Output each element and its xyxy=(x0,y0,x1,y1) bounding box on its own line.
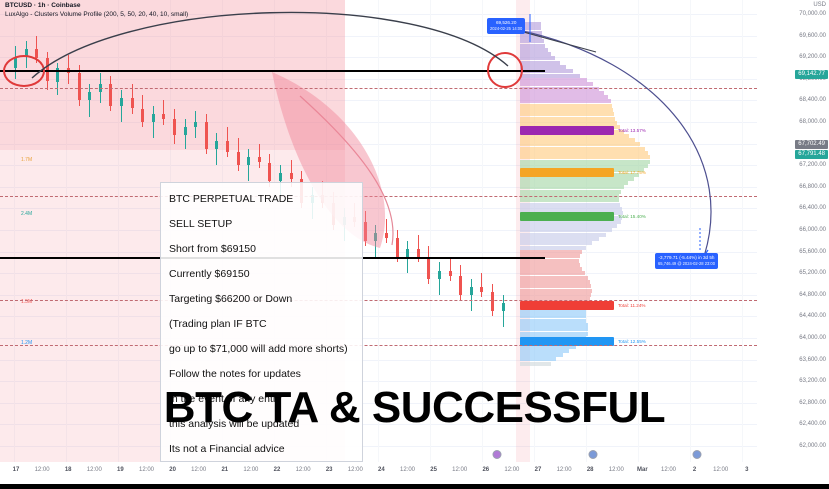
price-tick-label: 65,600.00 xyxy=(799,249,826,255)
volume-cluster-label: Total: 17.75% xyxy=(618,170,646,175)
tooltip-time: 2024-02-25 14:00 xyxy=(490,26,522,32)
time-tick-label: 24 xyxy=(378,467,385,473)
price-tick-label: 69,200.00 xyxy=(799,54,826,60)
volume-cluster-band[interactable] xyxy=(520,212,614,221)
price-axis-unit: USD xyxy=(813,2,826,8)
left-volume-tag: 1.7M xyxy=(20,157,33,163)
time-tick-label: 12:00 xyxy=(713,467,728,473)
time-tick-label: 12:00 xyxy=(139,467,154,473)
note-line: Short from $69150 xyxy=(169,243,256,255)
measurement-tooltip: -3,779.71 (-5.44%) in 3d 5h 65,746.49 @ … xyxy=(655,253,718,269)
time-tick-label: 23 xyxy=(326,467,333,473)
time-tick-label: 12:00 xyxy=(609,467,624,473)
time-tick-label: 12:00 xyxy=(661,467,676,473)
volume-cluster-label: Total: 15.40% xyxy=(618,214,646,219)
price-tick-label: 62,000.00 xyxy=(799,443,826,449)
note-line: Currently $69150 xyxy=(169,268,250,280)
time-tick-label: 18 xyxy=(65,467,72,473)
volume-cluster-label: Total: 13.57% xyxy=(618,128,646,133)
time-tick-label: 20 xyxy=(169,467,176,473)
price-tag[interactable]: 67,702.49 xyxy=(795,140,828,149)
note-line: Follow the notes for updates xyxy=(169,368,301,380)
time-tick-label: 3 xyxy=(745,467,748,473)
price-tick-label: 64,000.00 xyxy=(799,335,826,341)
time-tick-label: 12:00 xyxy=(87,467,102,473)
note-line: BTC PERPETUAL TRADE xyxy=(169,193,293,205)
note-line: (Trading plan IF BTC xyxy=(169,318,267,330)
price-tick-label: 63,600.00 xyxy=(799,357,826,363)
resistance-line[interactable] xyxy=(0,70,545,72)
volume-profile-row xyxy=(520,362,551,366)
note-line: Its not a Financial advice xyxy=(169,443,285,455)
time-tick-label: 26 xyxy=(482,467,489,473)
volume-cluster-band[interactable] xyxy=(520,168,614,177)
price-tick-label: 69,600.00 xyxy=(799,33,826,39)
swing-high-circle-left xyxy=(3,55,45,87)
measurement-detail: 65,746.49 @ 2024-02-28 23:00 xyxy=(658,261,715,267)
volume-cluster-label: Total: 12.55% xyxy=(618,339,646,344)
time-tick-label: 19 xyxy=(117,467,124,473)
time-tick-label: 12:00 xyxy=(452,467,467,473)
dashed-guide-1 xyxy=(0,88,757,89)
price-tooltip-top: 69,526.20 2024-02-25 14:00 xyxy=(487,18,525,34)
time-tick-label: 12:00 xyxy=(35,467,50,473)
price-tick-label: 64,800.00 xyxy=(799,292,826,298)
chart-header: BTCUSD · 1h · Coinbase LuxAlgo - Cluster… xyxy=(5,2,188,19)
time-tick-label: 17 xyxy=(13,467,20,473)
price-tag[interactable]: 69,142.77 xyxy=(795,70,828,79)
symbol-title: BTCUSD · 1h · Coinbase xyxy=(5,2,188,10)
time-tick-label: 21 xyxy=(221,467,228,473)
time-tick-label: 12:00 xyxy=(400,467,415,473)
volume-cluster-band[interactable] xyxy=(520,301,614,310)
time-tick-label: 27 xyxy=(535,467,542,473)
note-line: go up to $71,000 will add more shorts) xyxy=(169,343,348,355)
note-line: Targeting $66200 or Down xyxy=(169,293,292,305)
time-tick-label: 22 xyxy=(274,467,281,473)
price-tick-label: 65,200.00 xyxy=(799,270,826,276)
price-tick-label: 68,000.00 xyxy=(799,119,826,125)
time-axis[interactable]: 1712:001812:001912:002012:002112:002212:… xyxy=(0,462,829,484)
price-tick-label: 66,000.00 xyxy=(799,227,826,233)
time-tick-label: Mar xyxy=(637,467,648,473)
swing-high-circle-right xyxy=(487,52,523,88)
volume-cluster-band[interactable] xyxy=(520,126,614,135)
bottom-letterbox xyxy=(0,484,829,489)
price-tick-label: 67,200.00 xyxy=(799,162,826,168)
price-tick-label: 66,800.00 xyxy=(799,184,826,190)
price-tick-label: 68,400.00 xyxy=(799,97,826,103)
dashed-guide-2 xyxy=(0,196,757,197)
note-line: SELL SETUP xyxy=(169,218,232,230)
price-tick-label: 64,400.00 xyxy=(799,313,826,319)
dashed-guide-3 xyxy=(0,300,757,301)
price-tick-label: 70,000.00 xyxy=(799,11,826,17)
time-tick-label: 12:00 xyxy=(191,467,206,473)
left-volume-tag: 2.4M xyxy=(20,211,33,217)
time-tick-label: 2 xyxy=(693,467,696,473)
overlay-title-text: BTC TA & SUCCESSFUL xyxy=(0,383,829,433)
time-tick-label: 28 xyxy=(587,467,594,473)
time-tick-label: 12:00 xyxy=(296,467,311,473)
economic-event-icon[interactable] xyxy=(493,450,502,459)
chart-screenshot: Total: 13.57%Total: 17.75%Total: 15.40%T… xyxy=(0,0,829,489)
price-tick-label: 66,400.00 xyxy=(799,205,826,211)
volume-cluster-label: Total: 11.24% xyxy=(618,303,646,308)
time-tick-label: 12:00 xyxy=(504,467,519,473)
time-tick-label: 25 xyxy=(430,467,437,473)
economic-event-icon[interactable] xyxy=(693,450,702,459)
time-tick-label: 12:00 xyxy=(557,467,572,473)
dashed-guide-4 xyxy=(0,345,757,346)
indicator-title: LuxAlgo - Clusters Volume Profile (200, … xyxy=(5,11,188,19)
time-tick-label: 12:00 xyxy=(243,467,258,473)
price-tag[interactable]: 67,791.48 xyxy=(795,150,828,159)
economic-event-icon[interactable] xyxy=(589,450,598,459)
time-tick-label: 12:00 xyxy=(348,467,363,473)
